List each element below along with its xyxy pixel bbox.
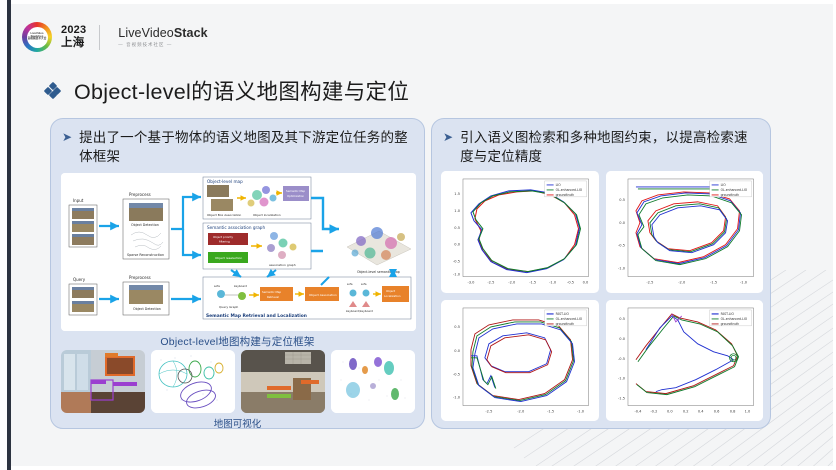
svg-text:-1.5: -1.5 [618,396,625,400]
arrow-bullet-icon: ➤ [62,128,72,166]
svg-text:groundtruth: groundtruth [556,193,575,197]
brand-live-text: LiveVideo [118,26,174,40]
svg-text:-1.0: -1.0 [453,273,461,277]
svg-text:Object: Object [386,289,396,293]
svg-text:-0.2: -0.2 [650,409,657,413]
svg-text:sofa: sofa [361,282,367,286]
brand-subtitle: — 音视频技术社区 — [118,43,207,47]
svg-text:Object Detection: Object Detection [131,223,159,227]
svg-text:Sparse Reconstruction: Sparse Reconstruction [127,253,164,257]
map-visualization-thumbnails [61,350,415,413]
chart-bottom-right[interactable]: 0.50.0 -0.5-1.0-1.5 -0.4-0.20.0 0.20.40.… [606,300,764,422]
slide-canvas: LiveVideo StackCon 音视频技术大会 2023 上海 LiveV… [0,0,836,470]
svg-text:-1.0: -1.0 [549,281,557,285]
brand-stack-text: Stack [174,26,208,40]
svg-text:-1.0: -1.0 [618,267,626,271]
left-bullet-text: 提出了一个基于物体的语义地图及其下游定位任务的整体框架 [79,128,412,166]
svg-text:filtering: filtering [219,240,230,244]
svg-text:Object Box Association: Object Box Association [207,213,241,217]
svg-text:Object-level map: Object-level map [207,179,243,184]
svg-text:0.8: 0.8 [729,409,735,413]
svg-text:Semantic association graph: Semantic association graph [207,225,265,230]
svg-text:-0.5: -0.5 [618,356,625,360]
svg-text:-2.5: -2.5 [487,281,494,285]
svg-text:-0.5: -0.5 [567,281,574,285]
thumb-indoor-room-detection[interactable] [61,350,145,413]
svg-text:Retrieval: Retrieval [267,295,279,299]
svg-text:OL-enhanced-LIO: OL-enhanced-LIO [720,188,747,192]
svg-text:-2.5: -2.5 [485,409,492,413]
svg-text:-0.5: -0.5 [453,372,460,376]
chart-legend: LIO OL-enhanced-LIO groundtruth [545,181,587,197]
svg-text:Semantic Map Retrieval and Loc: Semantic Map Retrieval and Localization [206,313,307,319]
svg-text:Object reselection: Object reselection [215,256,242,260]
svg-text:Preprocess: Preprocess [129,275,151,280]
svg-text:association graph: association graph [269,263,296,267]
svg-text:0.5: 0.5 [619,198,625,202]
slide-edge-top [0,0,836,4]
svg-text:keyboard: keyboard [234,284,247,288]
right-bullet-text: 引入语义图检索和多种地图约束，以提高检索速度与定位精度 [460,128,758,166]
logo-divider [99,25,100,50]
svg-text:-1.5: -1.5 [547,409,554,413]
svg-text:-2.0: -2.0 [508,281,516,285]
svg-text:-1.0: -1.0 [577,409,585,413]
slide-edge-bottom [0,466,836,470]
svg-text:LIO: LIO [720,183,726,187]
thumb-sparse-point-cloud-objects[interactable] [151,350,235,413]
svg-text:OL-enhanced-LIO: OL-enhanced-LIO [720,317,747,321]
svg-text:0.5: 0.5 [619,316,625,320]
svg-text:OL-enhanced-LIO: OL-enhanced-LIO [556,317,583,321]
svg-text:-2.0: -2.0 [678,281,686,285]
svg-text:0.5: 0.5 [454,226,460,230]
chart-legend: LIO OL-enhanced-LIO groundtruth [709,181,751,197]
conference-logo-bar: LiveVideo StackCon 音视频技术大会 2023 上海 LiveV… [22,22,208,52]
svg-text:-1.5: -1.5 [710,281,717,285]
svg-text:-0.5: -0.5 [618,244,625,248]
svg-text:-0.4: -0.4 [634,409,642,413]
framework-diagram: Input Query Preprocess Object Detection [61,173,416,331]
svg-text:Semantic Map: Semantic Map [286,189,305,193]
svg-text:sofa: sofa [347,282,353,286]
svg-text:Query: Query [73,277,86,282]
svg-text:0.6: 0.6 [713,409,719,413]
page-title: Object-level的语义地图构建与定位 [74,75,409,106]
framework-figure-caption: Object-level地图构建与定位框架 [51,334,424,349]
chart-top-left[interactable]: 1.51.00.5 0.0-0.5-1.0 -3.0-2.5-2.0 -1.5-… [441,171,599,293]
left-content-panel: ➤ 提出了一个基于物体的语义地图及其下游定位任务的整体框架 [50,118,425,429]
svg-text:-0.5: -0.5 [453,260,460,264]
svg-text:FAST-LIO: FAST-LIO [556,312,570,316]
logo-city-text: 上海 [61,37,86,50]
svg-text:-1.5: -1.5 [529,281,536,285]
svg-text:0.0: 0.0 [666,409,672,413]
svg-text:0.2: 0.2 [682,409,688,413]
svg-text:FAST-LIO: FAST-LIO [720,312,734,316]
svg-text:Object priority: Object priority [213,235,233,239]
svg-text:1.5: 1.5 [454,192,460,196]
framework-diagram-card: Input Query Preprocess Object Detection [61,173,416,331]
diamond-bullet-icon [45,83,60,98]
livevideostack-wordmark: LiveVideoStack — 音视频技术社区 — [118,27,207,47]
slide-accent-bar [7,0,11,470]
svg-text:Preprocess: Preprocess [129,192,151,197]
svg-text:OL-enhanced-LIO: OL-enhanced-LIO [556,188,583,192]
trajectory-charts-grid: 1.51.00.5 0.0-0.5-1.0 -3.0-2.5-2.0 -1.5-… [441,171,763,421]
svg-text:0.0: 0.0 [619,336,625,340]
thumb-office-room-detection[interactable] [241,350,325,413]
chart-top-right[interactable]: 0.50.0 -0.5-1.0 -2.5-2.0 -1.5-1.0 [606,171,764,293]
svg-text:groundtruth: groundtruth [720,193,739,197]
svg-text:Input: Input [73,198,84,203]
chart-legend: FAST-LIO OL-enhanced-LIO groundtruth [545,309,587,325]
svg-text:groundtruth: groundtruth [556,322,575,326]
logo-year-city: 2023 上海 [61,24,86,49]
svg-text:0.4: 0.4 [697,409,703,413]
left-bullet-row: ➤ 提出了一个基于物体的语义地图及其下游定位任务的整体框架 [51,119,424,166]
map-visualization-caption: 地图可视化 [51,416,424,430]
svg-text:-2.0: -2.0 [517,409,525,413]
ring-logo-line3: 音视频技术大会 [28,38,47,41]
svg-text:Localization: Localization [384,294,401,298]
chart-bottom-left[interactable]: 0.50.0 -0.5-1.0 -2.5-2.0 -1.5-1.0 [441,300,599,422]
svg-text:0.0: 0.0 [619,221,625,225]
svg-text:-1.0: -1.0 [740,281,748,285]
right-bullet-row: ➤ 引入语义图检索和多种地图约束，以提高检索速度与定位精度 [432,119,770,166]
slide-edge-left [0,0,7,470]
livevideostackcon-ring-logo-icon: LiveVideo StackCon 音视频技术大会 [22,22,52,52]
arrow-bullet-icon: ➤ [443,128,453,166]
slide-title-row: Object-level的语义地图构建与定位 [45,75,409,106]
svg-text:groundtruth: groundtruth [720,322,739,326]
svg-text:0.0: 0.0 [454,348,460,352]
svg-text:0.5: 0.5 [454,324,460,328]
svg-text:keyboard/keyboard: keyboard/keyboard [346,309,373,313]
svg-text:1.0: 1.0 [454,209,460,213]
svg-text:-1.0: -1.0 [453,395,461,399]
svg-text:Object Association: Object Association [309,293,337,297]
svg-text:-2.5: -2.5 [646,281,653,285]
svg-text:Optimization: Optimization [287,194,304,198]
svg-text:Query Graph: Query Graph [219,305,238,309]
svg-text:-3.0: -3.0 [467,281,475,285]
right-content-panel: ➤ 引入语义图检索和多种地图约束，以提高检索速度与定位精度 1.51.00.5 … [431,118,771,429]
svg-text:Object localization: Object localization [253,213,281,217]
svg-text:-1.0: -1.0 [618,376,626,380]
svg-text:1.0: 1.0 [744,409,750,413]
svg-text:Semantic Map: Semantic Map [262,290,281,294]
chart-legend: FAST-LIO OL-enhanced-LIO groundtruth [709,309,751,325]
svg-text:0.0: 0.0 [583,281,589,285]
svg-text:LIO: LIO [556,183,562,187]
svg-text:0.0: 0.0 [454,243,460,247]
logo-year-text: 2023 [61,24,86,36]
svg-text:sofa: sofa [214,284,220,288]
thumb-semantic-map-points[interactable] [331,350,415,413]
svg-text:Object Detection: Object Detection [133,307,161,311]
